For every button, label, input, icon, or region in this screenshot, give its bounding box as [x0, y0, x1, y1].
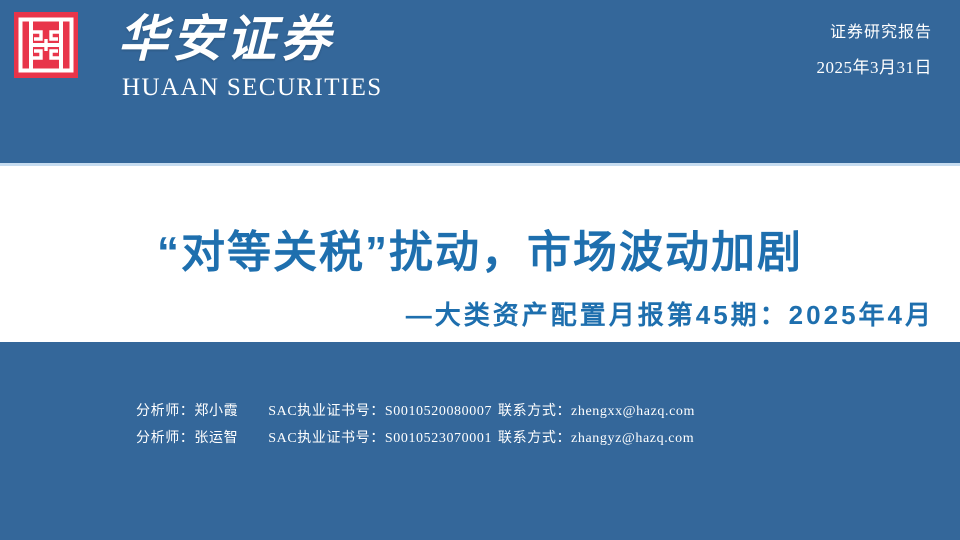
page-subtitle: —大类资产配置月报第45期：2025年4月 — [0, 296, 960, 334]
analyst-contact-label: 联系方式： — [498, 431, 571, 446]
analyst-sac-label: SAC执业证书号： — [268, 431, 385, 446]
analyst-row: 分析师：郑小霞SAC执业证书号：S0010520080007联系方式：zheng… — [136, 398, 836, 425]
analyst-contact-label: 联系方式： — [498, 404, 571, 419]
report-type-label: 证券研究报告 — [830, 22, 932, 44]
analyst-sac-label: SAC执业证书号： — [268, 404, 385, 419]
analyst-email[interactable]: zhengxx@hazq.com — [571, 404, 695, 419]
brand-name-en: HUAAN SECURITIES — [122, 74, 383, 102]
analyst-row: 分析师：张运智SAC执业证书号：S0010523070001联系方式：zhang… — [136, 425, 836, 452]
analyst-name: 郑小霞 — [194, 404, 238, 419]
analyst-list: 分析师：郑小霞SAC执业证书号：S0010520080007联系方式：zheng… — [136, 398, 836, 452]
huaan-seal-logo-icon — [14, 12, 78, 78]
analyst-role-label: 分析师： — [136, 404, 194, 419]
analyst-name: 张运智 — [194, 431, 238, 446]
report-cover-page: 华安证券 HUAAN SECURITIES 证券研究报告 2025年3月31日 … — [0, 0, 960, 540]
page-title: “对等关税”扰动，市场波动加剧 — [0, 224, 960, 282]
analyst-sac-number: S0010523070001 — [385, 431, 492, 446]
brand-name-cn: 华安证券 — [118, 8, 388, 70]
analyst-sac-number: S0010520080007 — [385, 404, 492, 419]
analyst-role-label: 分析师： — [136, 431, 194, 446]
report-date: 2025年3月31日 — [817, 57, 933, 79]
analyst-email[interactable]: zhangyz@hazq.com — [571, 431, 694, 446]
